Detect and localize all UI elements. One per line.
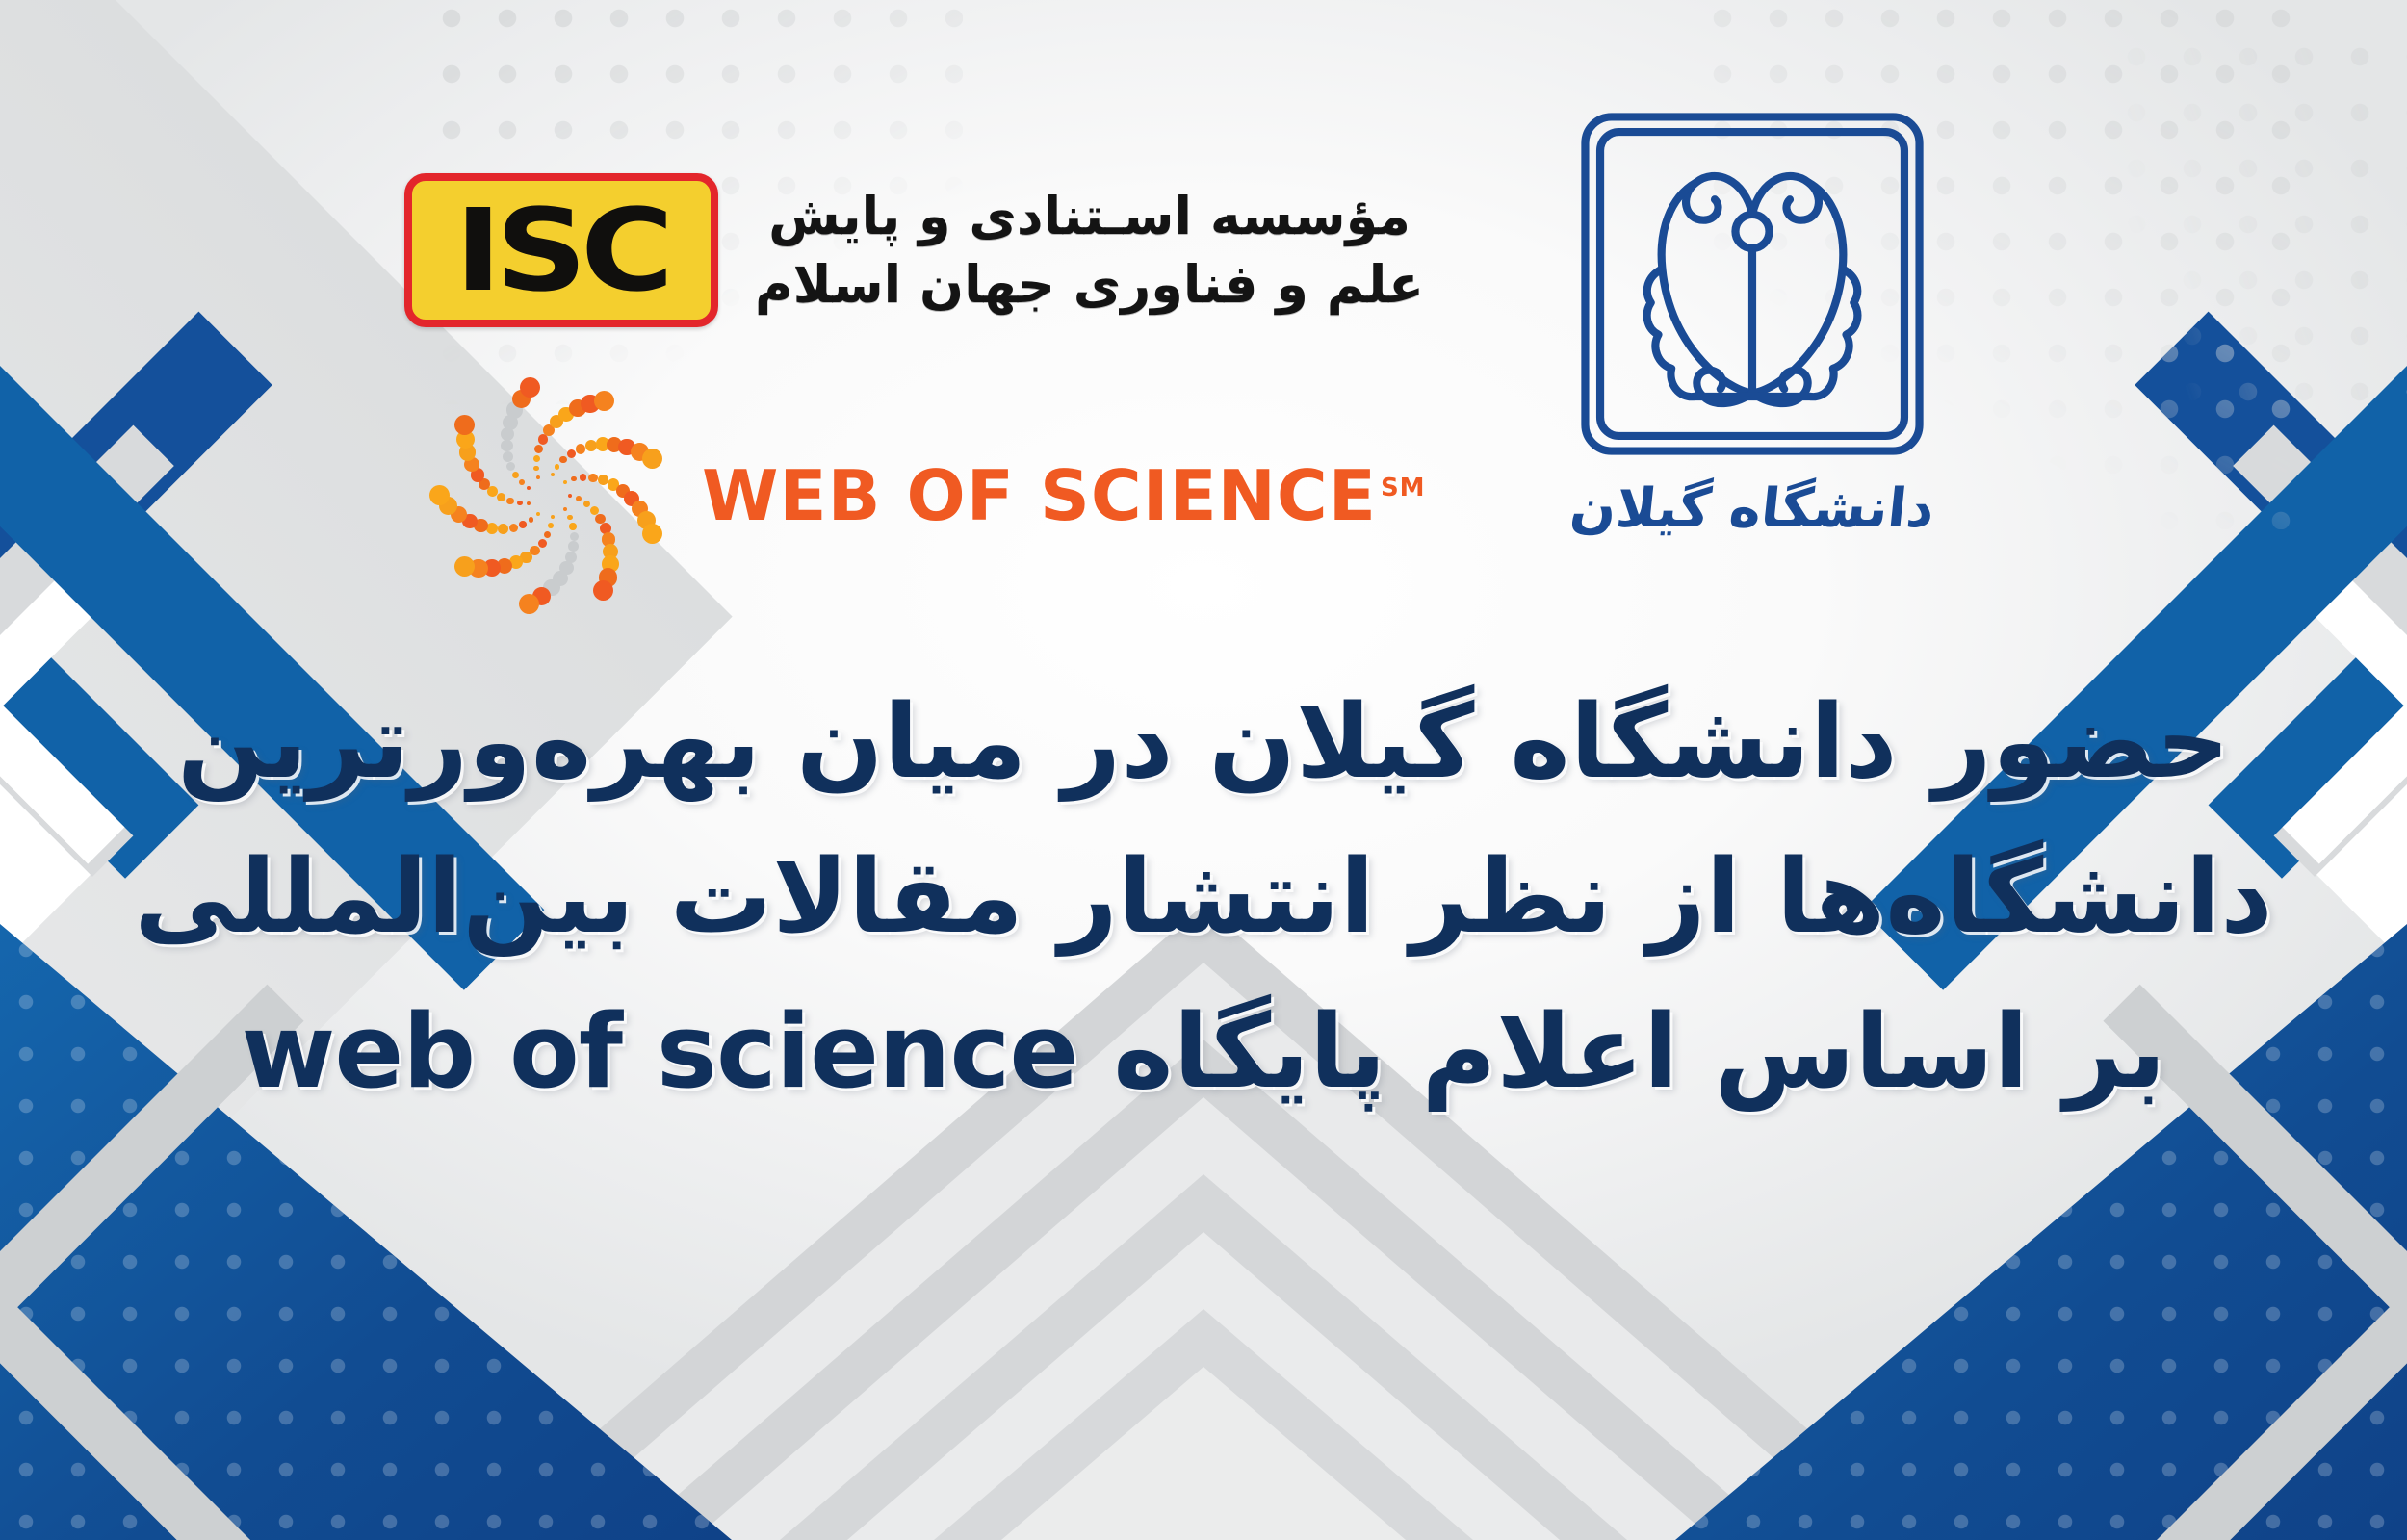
web-of-science-sm-mark: SM (1381, 474, 1426, 502)
poster-content: مؤسسه اسـتنادی و پایش علم و فناوری جهان … (0, 0, 2407, 1540)
wos-dot (563, 507, 567, 511)
wos-dot (534, 445, 543, 453)
headline-line-2: دانشگاه‌ها از نظر انتشار مقالات بین‌المل… (0, 819, 2407, 974)
wos-dot (520, 377, 540, 398)
isc-badge-text: ISC (454, 193, 667, 307)
wos-dot (588, 474, 597, 482)
wos-dot (538, 539, 547, 548)
wos-dot (567, 515, 573, 521)
wos-dot (512, 472, 519, 478)
wos-dot (529, 517, 534, 523)
web-of-science-logo[interactable]: WEB OF SCIENCESM (438, 385, 1426, 606)
isc-logo[interactable]: مؤسسه اسـتنادی و پایش علم و فناوری جهان … (404, 173, 1424, 327)
wos-dot (559, 456, 566, 463)
wos-dot (527, 486, 531, 490)
wos-dot (570, 532, 579, 541)
poster-canvas: مؤسسه اسـتنادی و پایش علم و فناوری جهان … (0, 0, 2407, 1540)
wos-dot (555, 464, 560, 470)
headline-line-1: حضور دانشگاه گیلان در میان بهره‌ورترین (0, 664, 2407, 819)
wos-dot (567, 449, 576, 458)
wos-dot (519, 594, 539, 614)
web-of-science-wordmark: WEB OF SCIENCESM (702, 455, 1426, 536)
wos-dot (536, 512, 540, 516)
wos-dot (571, 476, 577, 482)
wos-dot (536, 475, 540, 479)
wos-dot (551, 515, 555, 519)
university-name-caption: دانشگاه گیلان (1528, 477, 1978, 540)
wos-dot (519, 521, 526, 527)
wos-dot (497, 493, 505, 501)
wos-dot (642, 449, 662, 469)
wos-dot (533, 455, 540, 462)
wos-dot (593, 580, 613, 601)
wos-dot (548, 523, 554, 528)
isc-logo-line-1: مؤسسه اسـتنادی و پایش (755, 182, 1424, 250)
isc-logo-line-2: علم و فناوری جهان اسلام (755, 250, 1424, 319)
university-crest-icon (1565, 96, 1940, 472)
headline: حضور دانشگاه گیلان در میان بهره‌ورترین د… (0, 664, 2407, 1129)
wos-dot (533, 466, 539, 472)
wos-dot (501, 440, 513, 452)
wos-dot (498, 524, 508, 534)
wos-dot (551, 473, 555, 476)
wos-dot (517, 500, 523, 506)
wos-dot (527, 501, 531, 505)
wos-dot (568, 494, 572, 498)
headline-line-3: بر اساس اعلام پایگاه web of science (0, 974, 2407, 1129)
wos-dot (580, 474, 586, 480)
wos-dot (509, 524, 518, 532)
web-of-science-text: WEB OF SCIENCE (702, 455, 1377, 536)
wos-dot (503, 451, 513, 462)
wos-dot (487, 486, 498, 497)
logo-row: مؤسسه اسـتنادی و پایش علم و فناوری جهان … (0, 0, 2407, 616)
wos-dot (583, 500, 590, 507)
isc-logo-wordmark: مؤسسه اسـتنادی و پایش علم و فناوری جهان … (755, 182, 1424, 320)
wos-dot (576, 444, 586, 454)
wos-dot (429, 485, 450, 505)
wos-dot (544, 531, 551, 538)
wos-dot (486, 523, 499, 535)
wos-dot (642, 524, 662, 544)
wos-dot (519, 479, 525, 485)
web-of-science-spiral-icon (438, 385, 660, 606)
wos-dot (576, 496, 582, 501)
wos-dot (563, 480, 567, 484)
wos-dot (569, 523, 576, 529)
wos-dot (506, 462, 515, 471)
university-of-guilan-logo[interactable]: دانشگاه گیلان (1531, 96, 1974, 540)
wos-dot (454, 556, 475, 577)
isc-badge-icon: ISC (404, 173, 718, 327)
wos-dot (568, 541, 579, 552)
wos-dot (506, 498, 513, 504)
wos-dot (594, 391, 614, 411)
